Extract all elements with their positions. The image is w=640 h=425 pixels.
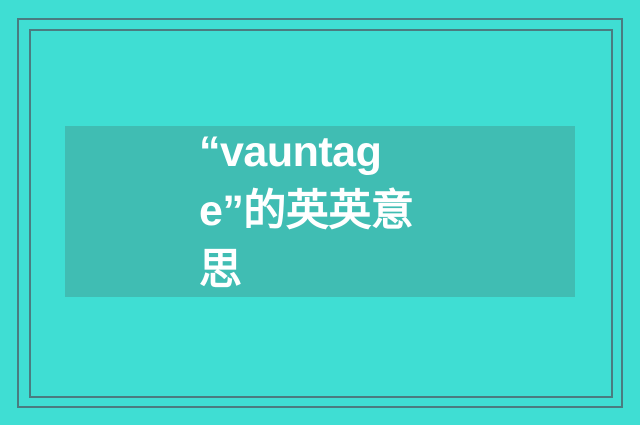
- headline-text: “vauntage”的英英意思: [199, 123, 441, 301]
- headline-panel: “vauntage”的英英意思: [65, 126, 575, 297]
- poster-canvas: “vauntage”的英英意思: [0, 0, 640, 425]
